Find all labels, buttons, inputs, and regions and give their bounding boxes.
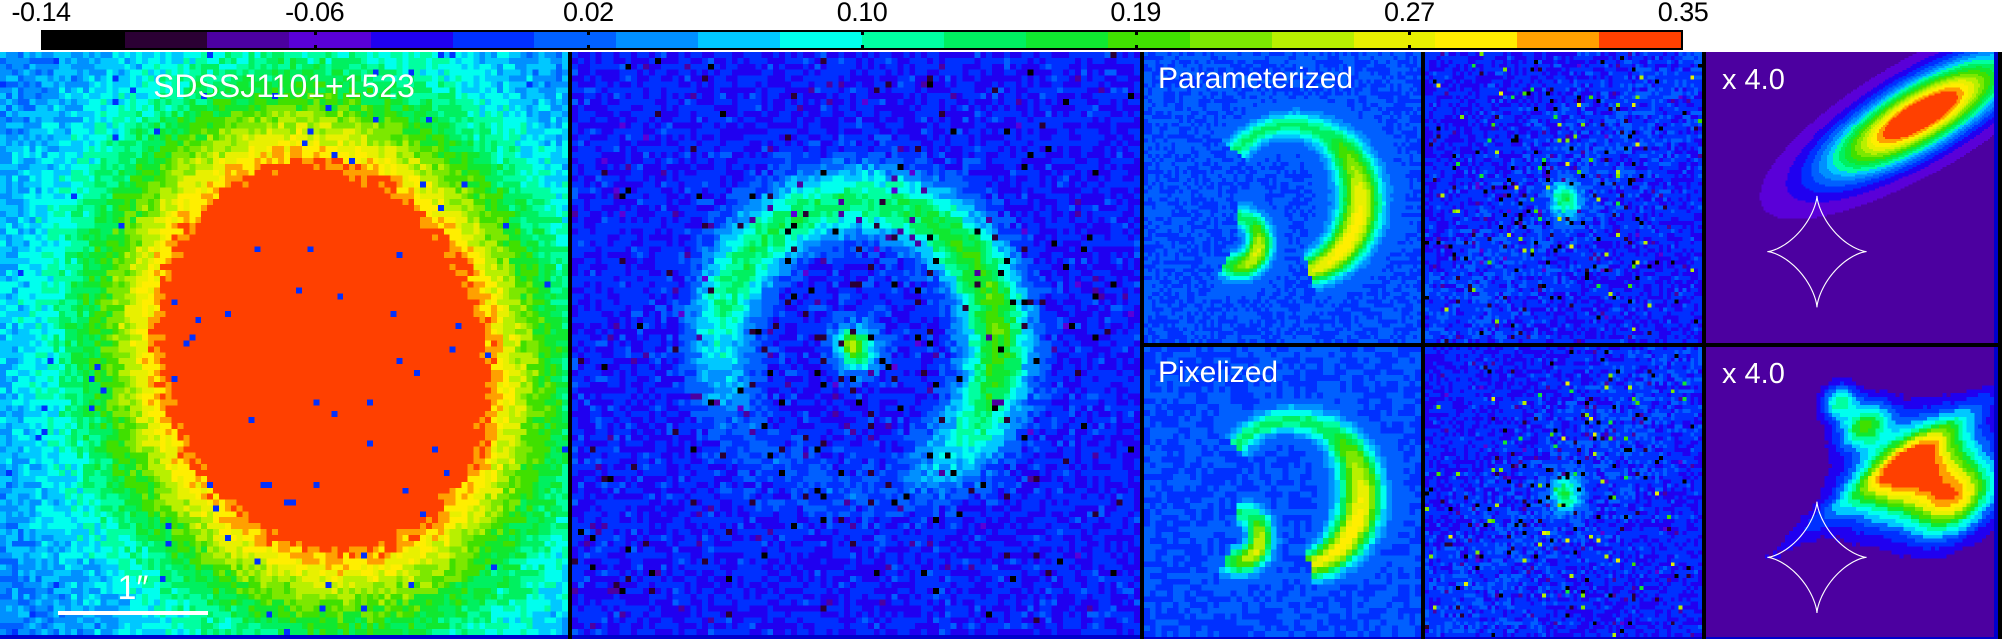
panel-model-column: Parameterized Pixelized xyxy=(1144,52,1425,639)
colorbar-tick-label: 0.02 xyxy=(563,0,614,28)
colorbar-tick-label: 0.35 xyxy=(1658,0,1709,28)
caustic-overlay-parameterized xyxy=(1706,52,1998,346)
lens-model-figure: -0.14-0.060.020.100.190.270.35 SDSSJ1101… xyxy=(0,0,2002,639)
colorbar-tick-label: 0.27 xyxy=(1384,0,1435,28)
colorbar-tick-label: 0.19 xyxy=(1110,0,1161,28)
colorbar-band-3 xyxy=(289,32,371,48)
colorbar-tick-label: -0.06 xyxy=(285,0,344,28)
lens-subtracted-pixels xyxy=(572,52,1140,635)
colorbar-band-5 xyxy=(453,32,535,48)
panel-lens-subtracted xyxy=(572,52,1144,639)
colorbar-tick-labels: -0.14-0.060.020.100.190.270.35 xyxy=(0,0,2002,28)
observed-image-pixels xyxy=(0,52,568,635)
row-divider xyxy=(1425,343,1702,347)
colorbar-band-1 xyxy=(125,32,207,48)
colorbar-band-4 xyxy=(371,32,453,48)
scale-bar-line xyxy=(58,611,208,615)
colorbar-band-12 xyxy=(1026,32,1108,48)
colorbar-band-19 xyxy=(1599,32,1681,48)
caustic-curve xyxy=(1767,501,1866,612)
panel-source-parameterized: x 4.0 xyxy=(1706,52,1998,346)
panel-residual-pixelized xyxy=(1425,346,1702,639)
colorbar-band-14 xyxy=(1190,32,1272,48)
panel-source-column: x 4.0 x 4.0 xyxy=(1706,52,1998,639)
residual-parameterized-pixels xyxy=(1425,52,1702,343)
scale-bar: 1″ xyxy=(58,571,208,615)
colorbar-band-9 xyxy=(780,32,862,48)
colorbar-band-11 xyxy=(944,32,1026,48)
panel-model-pixelized: Pixelized xyxy=(1144,346,1421,639)
panel-observed-image: SDSSJ1101+1523 1″ xyxy=(0,52,572,639)
colorbar-band-13 xyxy=(1108,32,1190,48)
residual-pixelized-pixels xyxy=(1425,346,1702,637)
caustic-curve xyxy=(1767,196,1866,307)
caustic-overlay-pixelized xyxy=(1706,346,1998,639)
row-divider xyxy=(1144,343,1421,347)
colorbar-band-17 xyxy=(1435,32,1517,48)
colorbar-tick-label: -0.14 xyxy=(11,0,70,28)
colorbar-band-10 xyxy=(862,32,944,48)
colorbar-band-16 xyxy=(1354,32,1436,48)
colorbar-band-6 xyxy=(534,32,616,48)
colorbar-band-15 xyxy=(1272,32,1354,48)
scale-bar-label: 1″ xyxy=(58,571,208,605)
colorbar-tick-label: 0.10 xyxy=(837,0,888,28)
colorbar-strip xyxy=(41,30,1683,50)
colorbar-band-18 xyxy=(1517,32,1599,48)
row-divider xyxy=(1706,343,1998,347)
colorbar: -0.14-0.060.020.100.190.270.35 xyxy=(0,0,2002,52)
colorbar-band-2 xyxy=(207,32,289,48)
colorbar-band-7 xyxy=(616,32,698,48)
panel-residual-column xyxy=(1425,52,1706,639)
panel-model-parameterized: Parameterized xyxy=(1144,52,1421,346)
model-pixelized-pixels xyxy=(1144,346,1421,637)
colorbar-band-8 xyxy=(698,32,780,48)
panel-residual-parameterized xyxy=(1425,52,1702,346)
panel-source-pixelized: x 4.0 xyxy=(1706,346,1998,639)
colorbar-band-0 xyxy=(43,32,125,48)
model-parameterized-pixels xyxy=(1144,52,1421,343)
panel-grid: SDSSJ1101+1523 1″ Parameterized Pixelize… xyxy=(0,52,2002,639)
